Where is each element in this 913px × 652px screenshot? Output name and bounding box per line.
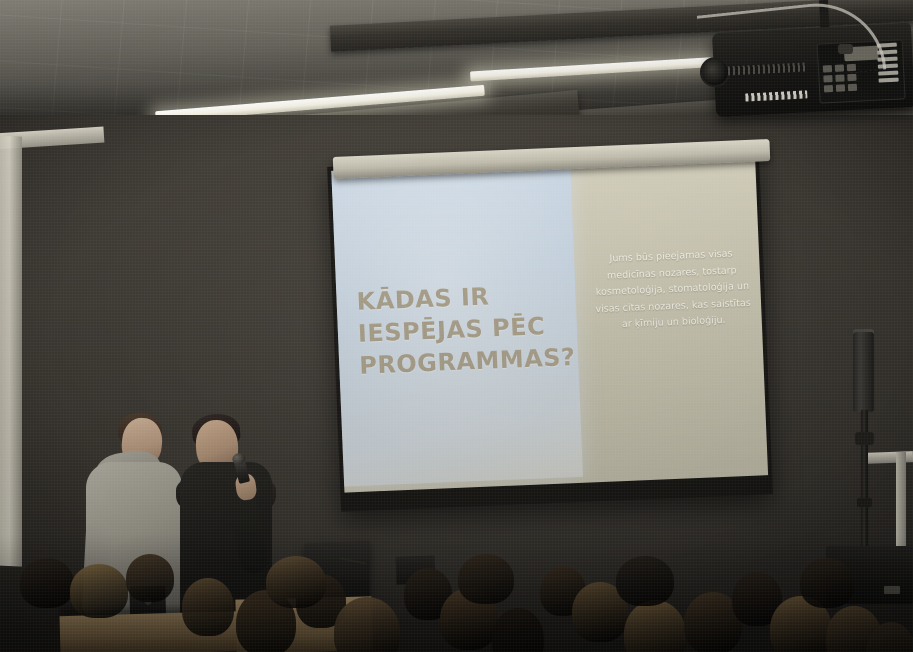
projector-button[interactable] (823, 75, 832, 82)
left-whiteboard (0, 135, 22, 566)
column-speaker (853, 332, 874, 412)
audience-head (182, 578, 234, 636)
audience-head (624, 600, 686, 652)
audience-head (70, 564, 128, 618)
projector-button[interactable] (836, 84, 845, 91)
audience-head (334, 597, 400, 652)
audience-head (20, 558, 74, 608)
audience-head (492, 608, 544, 652)
speaker-stand-collar (855, 432, 874, 445)
screen-surface: KĀDAS IR IESPĒJAS PĒC PROGRAMMAS? Jums b… (331, 153, 768, 492)
projector-port-strip (745, 90, 807, 101)
slide-body-text: Jums būs pieejamas visas medicīnas nozar… (587, 246, 758, 335)
slide-title: KĀDAS IR IESPĒJAS PĒC PROGRAMMAS? (356, 277, 575, 382)
projector-button[interactable] (847, 74, 856, 81)
lecture-hall-photo: KĀDAS IR IESPĒJAS PĒC PROGRAMMAS? Jums b… (0, 0, 913, 652)
audience-head (800, 558, 854, 608)
projector-indicator (878, 71, 898, 76)
audience-head (266, 556, 326, 608)
projector-button[interactable] (848, 84, 857, 91)
projection-screen: KĀDAS IR IESPĒJAS PĒC PROGRAMMAS? Jums b… (327, 149, 773, 511)
audience-head (126, 554, 174, 602)
seated-audience (0, 537, 913, 652)
speaker-stand-collar (857, 498, 872, 507)
audience-head (458, 554, 514, 604)
projector-button[interactable] (835, 74, 844, 81)
projector-indicator (879, 78, 899, 83)
projector-button[interactable] (824, 85, 833, 92)
audience-head (616, 556, 674, 606)
